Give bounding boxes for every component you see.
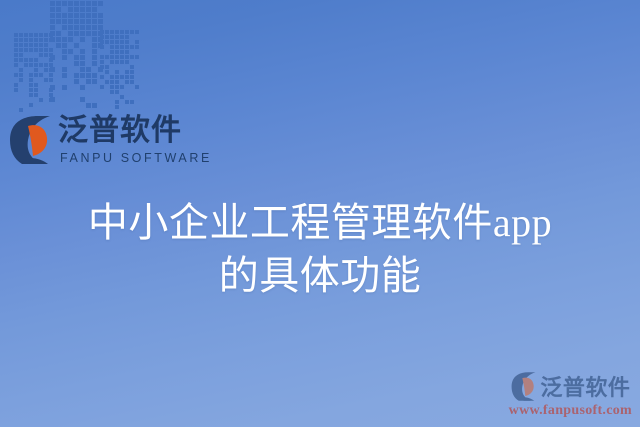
pixel-block — [100, 70, 104, 74]
pixel-block — [49, 83, 53, 87]
pixel-block — [80, 49, 85, 54]
pixel-block — [98, 55, 103, 60]
pixel-block — [105, 55, 109, 59]
pixel-block — [105, 75, 109, 79]
pixel-block — [44, 83, 48, 87]
pixel-block — [98, 37, 103, 42]
pixel-block — [29, 38, 33, 42]
pixel-block — [56, 61, 61, 66]
pixel-block — [39, 33, 43, 37]
pixel-block — [14, 58, 18, 62]
pixel-block — [56, 1, 61, 6]
pixel-block — [125, 60, 129, 64]
pixel-block — [39, 88, 43, 92]
pixel-block — [49, 68, 53, 72]
pixel-block — [105, 80, 109, 84]
pixel-block — [24, 43, 28, 47]
pixel-block — [50, 91, 55, 96]
pixel-block — [86, 19, 91, 24]
pixel-block — [130, 30, 134, 34]
pixel-block — [50, 7, 55, 12]
pixel-block — [29, 73, 33, 77]
pixel-block — [50, 67, 55, 72]
pixel-block — [110, 45, 114, 49]
pixel-block — [44, 38, 48, 42]
pixel-block — [74, 1, 79, 6]
pixel-block — [24, 103, 28, 107]
pixel-block — [115, 55, 119, 59]
pixel-block — [100, 40, 104, 44]
pixel-block — [24, 98, 28, 102]
pixel-block — [14, 78, 18, 82]
pixel-block — [98, 1, 103, 6]
pixel-block — [14, 33, 18, 37]
pixel-block — [34, 68, 38, 72]
pixel-block — [100, 85, 104, 89]
pixel-block — [19, 43, 23, 47]
pixel-block — [49, 63, 53, 67]
pixel-block — [86, 85, 91, 90]
pixel-block — [68, 25, 73, 30]
pixel-block — [125, 50, 129, 54]
pixel-block — [92, 31, 97, 36]
pixel-block — [130, 100, 134, 104]
pixel-block — [98, 103, 103, 108]
pixel-block — [74, 13, 79, 18]
pixel-block — [130, 105, 134, 109]
pixel-block — [115, 75, 119, 79]
pixel-block — [80, 25, 85, 30]
pixel-block — [44, 68, 48, 72]
pixel-block — [115, 65, 119, 69]
pixel-block — [56, 49, 61, 54]
pixel-block — [125, 35, 129, 39]
pixel-block — [34, 73, 38, 77]
pixel-block — [120, 40, 124, 44]
pixel-block — [98, 73, 103, 78]
pixel-block — [24, 108, 28, 112]
watermark: 泛普软件 www.fanpusoft.com — [509, 370, 632, 419]
pixel-block — [115, 30, 119, 34]
pixel-block — [105, 70, 109, 74]
pixel-block — [120, 95, 124, 99]
pixel-block — [50, 25, 55, 30]
pixel-block — [56, 91, 61, 96]
pixel-block — [68, 19, 73, 24]
pixel-block — [14, 63, 18, 67]
pixel-block — [29, 103, 33, 107]
pixel-block — [92, 61, 97, 66]
pixel-block — [100, 60, 104, 64]
pixel-block — [50, 97, 55, 102]
pixel-block — [115, 35, 119, 39]
pixel-block — [92, 103, 97, 108]
pixel-block — [92, 25, 97, 30]
pixel-block — [110, 35, 114, 39]
pixel-block — [105, 95, 109, 99]
pixel-block — [39, 53, 43, 57]
pixel-block — [49, 103, 53, 107]
pixel-block — [130, 75, 134, 79]
pixel-block — [29, 58, 33, 62]
pixel-block — [86, 55, 91, 60]
pixel-block — [68, 13, 73, 18]
pixel-block — [110, 100, 114, 104]
pixel-block — [120, 80, 124, 84]
pixel-block — [62, 25, 67, 30]
pixel-block — [56, 19, 61, 24]
pixel-block — [56, 7, 61, 12]
pixel-block — [120, 35, 124, 39]
pixel-block — [39, 48, 43, 52]
pixel-block — [50, 73, 55, 78]
pixel-block — [29, 53, 33, 57]
pixel-block — [62, 43, 67, 48]
pixel-block — [120, 30, 124, 34]
pixel-block — [49, 73, 53, 77]
pixel-block — [14, 48, 18, 52]
pixel-block — [39, 78, 43, 82]
headline: 中小企业工程管理软件app 的具体功能 — [0, 196, 640, 302]
pixel-block — [98, 7, 103, 12]
pixel-block — [135, 70, 139, 74]
pixel-block — [135, 90, 139, 94]
pixel-tower-left — [14, 33, 53, 112]
pixel-block — [34, 93, 38, 97]
pixel-block — [62, 73, 67, 78]
pixel-block — [74, 79, 79, 84]
pixel-block — [29, 78, 33, 82]
pixel-tower-right — [100, 30, 139, 114]
pixel-block — [86, 73, 91, 78]
pixel-block — [24, 78, 28, 82]
pixel-block — [62, 79, 67, 84]
pixel-block — [86, 37, 91, 42]
pixel-block — [24, 38, 28, 42]
pixel-block — [80, 103, 85, 108]
pixel-block — [29, 83, 33, 87]
pixel-block — [100, 65, 104, 69]
pixel-block — [74, 49, 79, 54]
headline-line-2: 的具体功能 — [0, 249, 640, 302]
pixel-block — [44, 103, 48, 107]
pixel-block — [120, 70, 124, 74]
pixel-block — [14, 68, 18, 72]
watermark-logo-row: 泛普软件 — [510, 370, 630, 402]
pixel-block — [34, 43, 38, 47]
pixel-block — [50, 55, 55, 60]
pixel-block — [68, 31, 73, 36]
pixel-block — [68, 103, 73, 108]
pixel-block — [49, 48, 53, 52]
pixel-block — [68, 55, 73, 60]
pixel-block — [105, 100, 109, 104]
pixel-block — [50, 37, 55, 42]
pixel-block — [120, 75, 124, 79]
pixel-block — [98, 97, 103, 102]
pixel-block — [98, 85, 103, 90]
pixel-block — [110, 75, 114, 79]
pixel-block — [120, 90, 124, 94]
pixel-block — [86, 7, 91, 12]
pixel-block — [110, 85, 114, 89]
pixel-block — [56, 79, 61, 84]
pixel-block — [14, 88, 18, 92]
pixel-block — [29, 68, 33, 72]
pixel-block — [80, 61, 85, 66]
pixel-block — [125, 95, 129, 99]
pixel-block — [56, 55, 61, 60]
pixel-block — [135, 60, 139, 64]
watermark-url: www.fanpusoft.com — [509, 403, 632, 419]
pixel-block — [120, 85, 124, 89]
pixel-block — [39, 63, 43, 67]
pixel-block — [92, 19, 97, 24]
pixel-block — [110, 80, 114, 84]
pixel-block — [19, 83, 23, 87]
pixel-block — [34, 83, 38, 87]
pixel-block — [62, 61, 67, 66]
pixel-block — [125, 40, 129, 44]
pixel-block — [34, 53, 38, 57]
pixel-block — [49, 78, 53, 82]
pixel-block — [80, 7, 85, 12]
headline-line-1: 中小企业工程管理软件app — [0, 196, 640, 249]
pixel-block — [14, 43, 18, 47]
pixel-block — [115, 100, 119, 104]
pixel-block — [50, 1, 55, 6]
pixel-block — [86, 61, 91, 66]
pixel-block — [44, 78, 48, 82]
pixel-block — [86, 97, 91, 102]
pixel-block — [115, 70, 119, 74]
pixel-block — [80, 43, 85, 48]
pixel-block — [62, 103, 67, 108]
pixel-block — [135, 75, 139, 79]
pixel-block — [110, 105, 114, 109]
pixel-city-decoration — [0, 0, 170, 120]
pixel-block — [115, 50, 119, 54]
pixel-block — [135, 50, 139, 54]
pixel-block — [86, 103, 91, 108]
pixel-block — [74, 67, 79, 72]
pixel-block — [130, 65, 134, 69]
pixel-block — [68, 73, 73, 78]
pixel-block — [74, 43, 79, 48]
pixel-block — [105, 50, 109, 54]
pixel-block — [68, 43, 73, 48]
pixel-block — [135, 85, 139, 89]
pixel-block — [50, 19, 55, 24]
pixel-block — [100, 100, 104, 104]
pixel-block — [39, 38, 43, 42]
pixel-block — [74, 85, 79, 90]
pixel-block — [56, 43, 61, 48]
pixel-block — [14, 93, 18, 97]
brand-logo: 泛普软件 FANPU SOFTWARE — [8, 114, 212, 166]
pixel-block — [98, 43, 103, 48]
pixel-block — [80, 37, 85, 42]
pixel-block — [29, 43, 33, 47]
pixel-block — [14, 103, 18, 107]
pixel-block — [100, 55, 104, 59]
pixel-block — [39, 108, 43, 112]
pixel-block — [115, 90, 119, 94]
pixel-block — [44, 98, 48, 102]
pixel-block — [86, 43, 91, 48]
pixel-block — [68, 91, 73, 96]
pixel-block — [50, 85, 55, 90]
pixel-block — [49, 58, 53, 62]
pixel-block — [125, 80, 129, 84]
pixel-block — [135, 80, 139, 84]
pixel-block — [24, 63, 28, 67]
pixel-block — [50, 79, 55, 84]
pixel-block — [115, 105, 119, 109]
pixel-block — [49, 53, 53, 57]
pixel-block — [92, 91, 97, 96]
pixel-block — [24, 73, 28, 77]
pixel-block — [135, 105, 139, 109]
pixel-block — [34, 33, 38, 37]
pixel-block — [120, 50, 124, 54]
pixel-block — [19, 103, 23, 107]
pixel-block — [130, 45, 134, 49]
pixel-block — [80, 79, 85, 84]
pixel-block — [34, 58, 38, 62]
promo-banner: 泛普软件 FANPU SOFTWARE 中小企业工程管理软件app 的具体功能 … — [0, 0, 640, 427]
pixel-block — [120, 45, 124, 49]
pixel-block — [86, 91, 91, 96]
pixel-block — [74, 97, 79, 102]
pixel-block — [80, 31, 85, 36]
pixel-block — [44, 53, 48, 57]
pixel-block — [62, 91, 67, 96]
pixel-block — [135, 100, 139, 104]
pixel-block — [125, 105, 129, 109]
pixel-block — [135, 95, 139, 99]
pixel-block — [135, 55, 139, 59]
pixel-block — [100, 105, 104, 109]
pixel-block — [34, 103, 38, 107]
pixel-block — [62, 49, 67, 54]
pixel-block — [19, 33, 23, 37]
pixel-block — [39, 58, 43, 62]
pixel-block — [98, 49, 103, 54]
pixel-block — [92, 13, 97, 18]
pixel-block — [56, 31, 61, 36]
pixel-block — [105, 85, 109, 89]
pixel-block — [120, 55, 124, 59]
pixel-block — [98, 19, 103, 24]
pixel-block — [56, 85, 61, 90]
pixel-block — [62, 55, 67, 60]
pixel-block — [14, 98, 18, 102]
pixel-block — [120, 105, 124, 109]
pixel-block — [115, 95, 119, 99]
pixel-block — [100, 30, 104, 34]
pixel-block — [24, 68, 28, 72]
pixel-block — [19, 88, 23, 92]
pixel-block — [56, 13, 61, 18]
pixel-block — [24, 33, 28, 37]
pixel-block — [19, 78, 23, 82]
pixel-block — [56, 25, 61, 30]
pixel-block — [120, 65, 124, 69]
pixel-block — [39, 93, 43, 97]
pixel-block — [39, 43, 43, 47]
pixel-block — [125, 85, 129, 89]
pixel-block — [125, 30, 129, 34]
pixel-block — [56, 73, 61, 78]
pixel-block — [100, 50, 104, 54]
pixel-block — [120, 60, 124, 64]
pixel-block — [49, 33, 53, 37]
pixel-block — [62, 31, 67, 36]
pixel-block — [29, 93, 33, 97]
pixel-block — [14, 38, 18, 42]
pixel-block — [92, 37, 97, 42]
pixel-block — [34, 63, 38, 67]
pixel-block — [24, 48, 28, 52]
pixel-block — [50, 43, 55, 48]
pixel-block — [110, 55, 114, 59]
pixel-block — [92, 1, 97, 6]
pixel-block — [50, 103, 55, 108]
pixel-block — [125, 70, 129, 74]
pixel-block — [19, 48, 23, 52]
pixel-block — [105, 45, 109, 49]
pixel-block — [92, 85, 97, 90]
pixel-block — [14, 53, 18, 57]
pixel-block — [74, 37, 79, 42]
pixel-block — [115, 85, 119, 89]
pixel-block — [62, 1, 67, 6]
pixel-block — [68, 79, 73, 84]
pixel-block — [74, 25, 79, 30]
pixel-block — [100, 90, 104, 94]
pixel-block — [29, 33, 33, 37]
pixel-block — [105, 65, 109, 69]
pixel-block — [29, 98, 33, 102]
pixel-block — [44, 93, 48, 97]
pixel-block — [68, 97, 73, 102]
pixel-block — [19, 53, 23, 57]
pixel-block — [49, 38, 53, 42]
pixel-block — [44, 88, 48, 92]
pixel-block — [34, 38, 38, 42]
pixel-block — [39, 103, 43, 107]
pixel-block — [56, 67, 61, 72]
pixel-block — [92, 97, 97, 102]
pixel-block — [130, 50, 134, 54]
pixel-block — [19, 108, 23, 112]
pixel-block — [115, 45, 119, 49]
pixel-block — [135, 45, 139, 49]
pixel-block — [80, 55, 85, 60]
pixel-block — [80, 1, 85, 6]
pixel-block — [86, 31, 91, 36]
pixel-block — [105, 40, 109, 44]
pixel-block — [105, 35, 109, 39]
pixel-block — [62, 7, 67, 12]
pixel-block — [44, 63, 48, 67]
pixel-block — [44, 108, 48, 112]
pixel-block — [130, 95, 134, 99]
pixel-block — [92, 7, 97, 12]
pixel-block — [56, 103, 61, 108]
pixel-block — [80, 85, 85, 90]
